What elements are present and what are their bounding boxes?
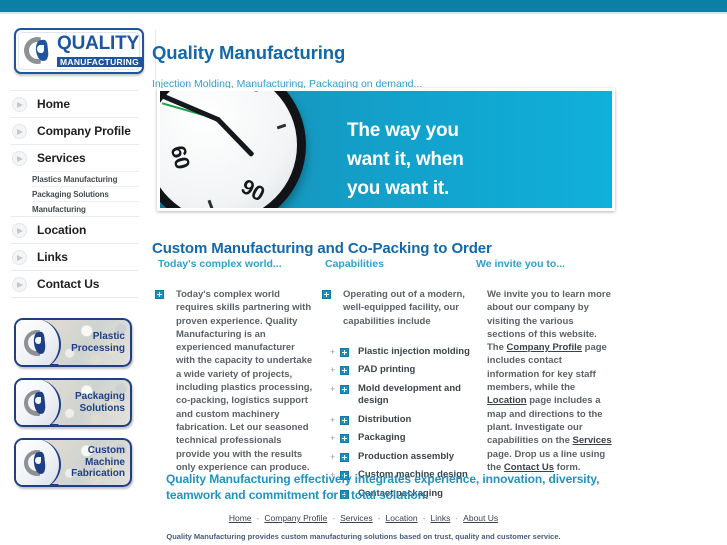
- arrow-circle-icon: [12, 223, 27, 238]
- sidebar-item-contact-us[interactable]: Contact Us: [0, 271, 155, 297]
- banner-headline-line3: you want it.: [347, 174, 464, 203]
- sidebar-item-label: Links: [37, 250, 68, 264]
- plus-marker-icon: +: [330, 346, 340, 358]
- plus-square-bullet-icon: [340, 416, 349, 425]
- main-heading: Custom Manufacturing and Co-Packing to O…: [152, 240, 492, 257]
- logo-secondary-text: MANUFACTURING: [57, 57, 142, 68]
- plus-square-bullet-icon: [155, 290, 164, 299]
- promo-button-plastic-processing[interactable]: Plastic Processing: [14, 318, 132, 367]
- column-1-body: Today's complex world requires skills pa…: [176, 288, 315, 474]
- banner-headline-line2: want it, when: [347, 145, 464, 174]
- page-title: Quality Manufacturing: [152, 42, 345, 64]
- capability-label: Plastic injection molding: [358, 346, 470, 359]
- promo-label-line2: Machine: [85, 457, 125, 469]
- list-item[interactable]: + Plastic injection molding: [322, 346, 482, 359]
- promo-label: Plastic Processing: [71, 320, 125, 365]
- arrow-circle-icon: [12, 151, 27, 166]
- promo-label-line3: Fabrication: [71, 468, 125, 480]
- logo-swoosh-icon: [24, 36, 54, 66]
- footer-link-home[interactable]: Home: [229, 513, 252, 523]
- column-3-body: We invite you to learn more about our co…: [487, 288, 612, 474]
- site-header: QUALITY MANUFACTURING Quality Manufactur…: [0, 14, 620, 86]
- sidebar-item-home[interactable]: Home: [0, 91, 155, 117]
- plus-marker-icon: +: [330, 451, 340, 463]
- footer-separator: -: [378, 513, 381, 523]
- arrow-circle-icon: [12, 277, 27, 292]
- plus-square-bullet-icon: [340, 453, 349, 462]
- plus-square-bullet-icon: [340, 366, 349, 375]
- link-location[interactable]: Location: [487, 395, 527, 406]
- footer-link-services[interactable]: Services: [340, 513, 373, 523]
- main-navigation: Home Company Profile Services Plastics M…: [0, 90, 155, 298]
- sidebar-subitem-plastics-manufacturing[interactable]: Plastics Manufacturing: [0, 172, 155, 186]
- column-heading-2: Capabilities: [325, 258, 384, 270]
- top-accent-bar: [0, 0, 727, 12]
- promo-button-custom-machine-fabrication[interactable]: Custom Machine Fabrication: [14, 438, 132, 487]
- footer-link-about-us[interactable]: About Us: [463, 513, 498, 523]
- promo-logo-badge: [15, 319, 61, 367]
- list-item[interactable]: + PAD printing: [322, 364, 482, 377]
- sidebar-item-label: Services: [37, 151, 86, 165]
- plus-square-bullet-icon: [340, 348, 349, 357]
- footer-link-links[interactable]: Links: [430, 513, 450, 523]
- footer-link-location[interactable]: Location: [386, 513, 418, 523]
- content-column-1: Today's complex world requires skills pa…: [155, 288, 315, 474]
- nav-divider: [10, 297, 139, 298]
- capability-label: Distribution: [358, 414, 411, 427]
- column-heading-1: Today's complex world...: [158, 258, 282, 270]
- sidebar-item-company-profile[interactable]: Company Profile: [0, 118, 155, 144]
- footer-separator: -: [332, 513, 335, 523]
- promo-label-line1: Plastic: [93, 331, 125, 343]
- promo-tail-shape: [50, 424, 59, 427]
- sidebar-subitem-manufacturing[interactable]: Manufacturing: [0, 202, 155, 216]
- promo-tail-shape: [50, 364, 59, 367]
- capability-label: Mold development and design: [358, 383, 482, 408]
- banner-headline-line1: The way you: [347, 116, 464, 145]
- sidebar-item-links[interactable]: Links: [0, 244, 155, 270]
- footer-navigation: Home-Company Profile-Services-Location-L…: [0, 513, 727, 523]
- column-2-body: Operating out of a modern, well-equipped…: [343, 288, 482, 328]
- logo-primary-text: QUALITY: [57, 34, 142, 53]
- sidebar-subitem-packaging-solutions[interactable]: Packaging Solutions: [0, 187, 155, 201]
- content-column-3: We invite you to learn more about our co…: [487, 288, 612, 474]
- arrow-circle-icon: [12, 250, 27, 265]
- promo-logo-badge: [15, 439, 61, 487]
- promo-label-line2: Solutions: [79, 403, 125, 415]
- arrow-circle-icon: [12, 97, 27, 112]
- plus-marker-icon: +: [330, 364, 340, 376]
- plus-square-bullet-icon: [340, 385, 349, 394]
- banner-headline: The way you want it, when you want it.: [347, 116, 464, 203]
- list-item[interactable]: + Production assembly: [322, 451, 482, 464]
- promo-button-packaging-solutions[interactable]: Packaging Solutions: [14, 378, 132, 427]
- sidebar-item-label: Location: [37, 223, 86, 237]
- footer-link-company-profile[interactable]: Company Profile: [264, 513, 327, 523]
- sidebar-item-label: Home: [37, 97, 70, 111]
- arrow-circle-icon: [12, 124, 27, 139]
- plus-marker-icon: +: [330, 432, 340, 444]
- promo-tail-shape: [50, 484, 59, 487]
- list-item[interactable]: + Distribution: [322, 414, 482, 427]
- hero-banner[interactable]: 09 06 03 The way you want it, when you w…: [157, 88, 615, 211]
- sidebar-subitem-label: Packaging Solutions: [32, 190, 109, 199]
- footer-separator: -: [423, 513, 426, 523]
- company-tagline: Quality Manufacturing effectively integr…: [166, 471, 606, 503]
- link-company-profile[interactable]: Company Profile: [507, 342, 583, 353]
- logo-wordmark: QUALITY MANUFACTURING: [57, 34, 142, 69]
- footer-separator: -: [257, 513, 260, 523]
- promo-label-line1: Custom: [88, 445, 125, 457]
- link-services[interactable]: Services: [573, 435, 612, 446]
- plus-marker-icon: +: [330, 414, 340, 426]
- capabilities-intro-row: Operating out of a modern, well-equipped…: [322, 288, 482, 328]
- list-item[interactable]: + Packaging: [322, 432, 482, 445]
- sidebar-item-label: Company Profile: [37, 124, 131, 138]
- footer-separator: -: [455, 513, 458, 523]
- capability-label: Packaging: [358, 432, 406, 445]
- sidebar-item-location[interactable]: Location: [0, 217, 155, 243]
- promo-label-line2: Processing: [71, 343, 125, 355]
- sidebar-item-services[interactable]: Services: [0, 145, 155, 171]
- footer-note: Quality Manufacturing provides custom ma…: [0, 532, 727, 541]
- promo-label: Packaging Solutions: [75, 380, 125, 425]
- column-heading-3: We invite you to...: [476, 258, 565, 270]
- capability-label: Production assembly: [358, 451, 454, 464]
- intro-bullet-row: Today's complex world requires skills pa…: [155, 288, 315, 474]
- plus-square-bullet-icon: [322, 290, 331, 299]
- promo-label: Custom Machine Fabrication: [71, 440, 125, 485]
- promo-label-line1: Packaging: [75, 391, 125, 403]
- clock-icon: 09 06 03: [157, 88, 306, 211]
- sidebar-subitem-label: Plastics Manufacturing: [32, 175, 117, 184]
- sidebar-item-label: Contact Us: [37, 277, 99, 291]
- site-logo[interactable]: QUALITY MANUFACTURING: [14, 28, 144, 74]
- capability-label: PAD printing: [358, 364, 415, 377]
- plus-marker-icon: +: [330, 383, 340, 395]
- logo-inner-frame: QUALITY MANUFACTURING: [18, 32, 140, 70]
- invite-row: We invite you to learn more about our co…: [487, 288, 612, 474]
- sidebar-promo-buttons: Plastic Processing Packaging Solutions: [14, 318, 144, 498]
- page-root: QUALITY MANUFACTURING Quality Manufactur…: [0, 0, 727, 545]
- list-item[interactable]: + Mold development and design: [322, 383, 482, 408]
- sidebar-subitem-label: Manufacturing: [32, 205, 86, 214]
- promo-logo-badge: [15, 379, 61, 427]
- plus-square-bullet-icon: [340, 434, 349, 443]
